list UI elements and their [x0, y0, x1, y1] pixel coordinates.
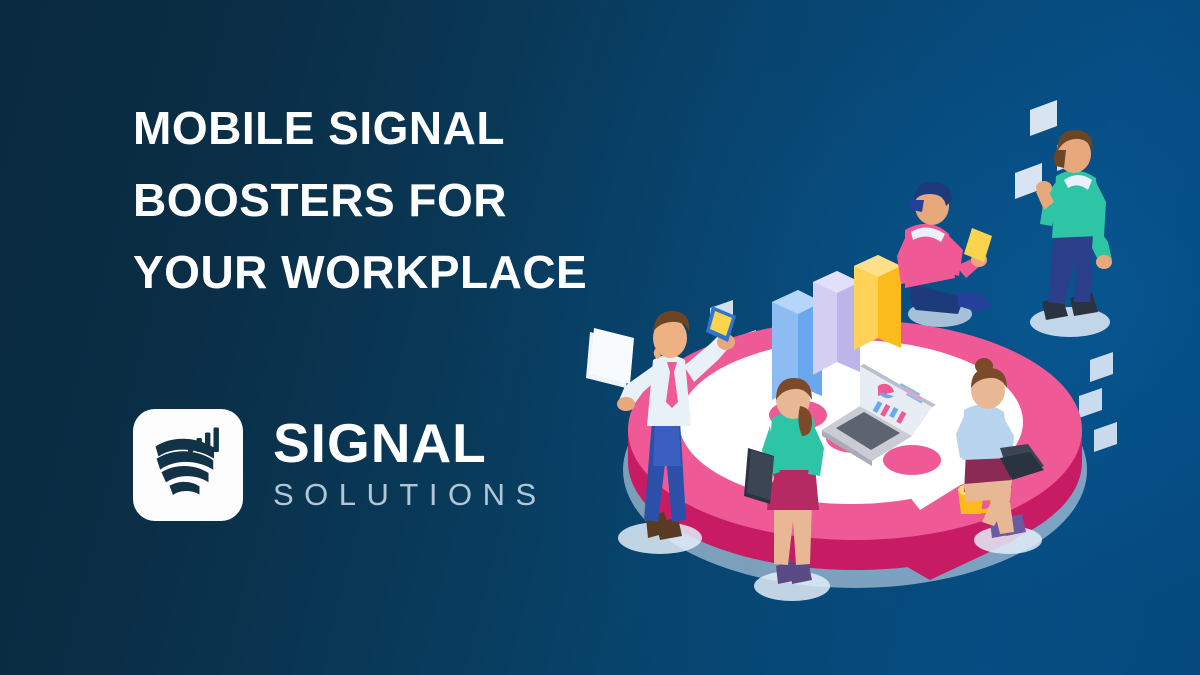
- brand-name: SIGNAL: [273, 415, 547, 471]
- brand-logo: SIGNAL SOLUTIONS: [133, 409, 547, 521]
- man-walking-on-phone: [1030, 130, 1112, 337]
- brand-text: SIGNAL SOLUTIONS: [273, 415, 547, 515]
- signal-shield-icon: [133, 409, 243, 521]
- platform-dot-3: [883, 445, 941, 475]
- isometric-illustration: [560, 70, 1200, 650]
- brand-tagline: SOLUTIONS: [273, 475, 547, 515]
- man-seated-with-phone: [897, 182, 992, 327]
- marketing-banner: MOBILE SIGNAL BOOSTERS FOR YOUR WORKPLAC…: [0, 0, 1200, 675]
